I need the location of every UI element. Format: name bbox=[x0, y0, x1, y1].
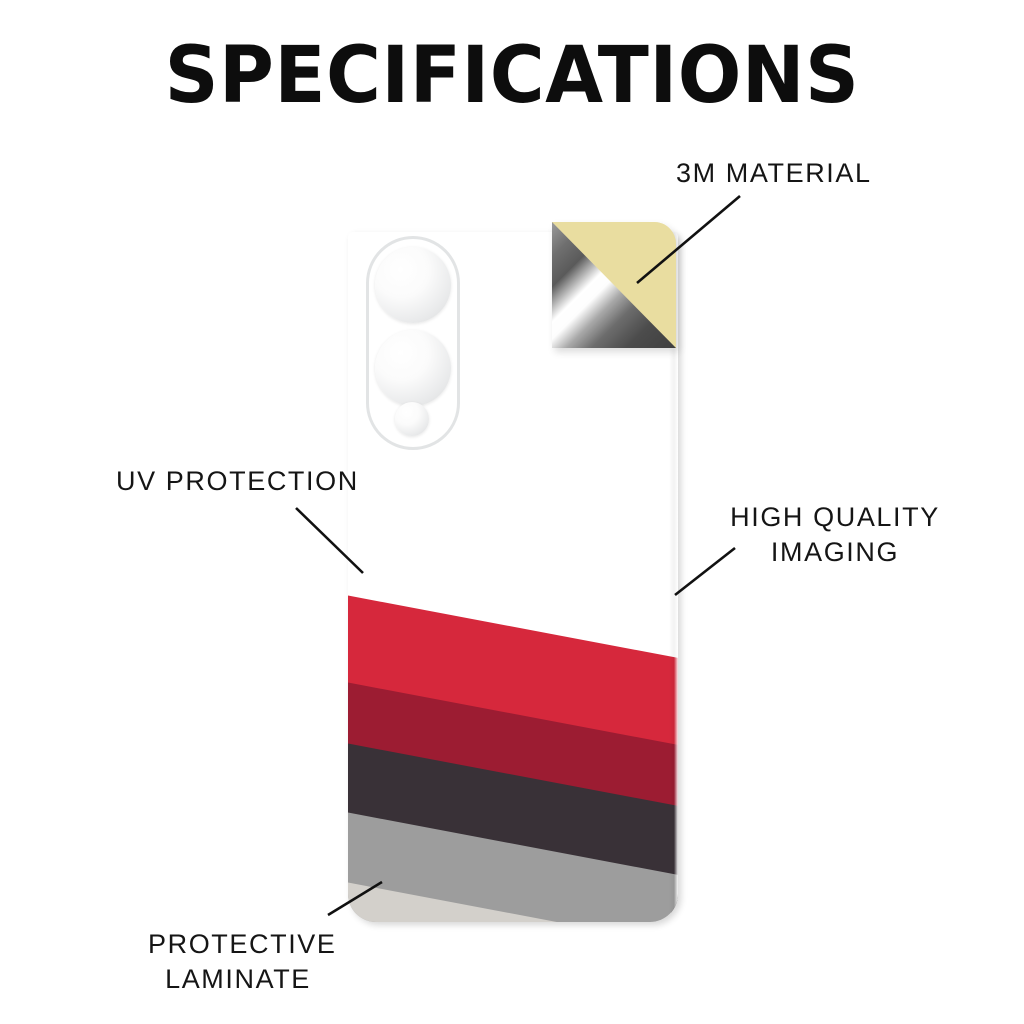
callout-label-protective-laminate: PROTECTIVE LAMINATE bbox=[148, 927, 328, 997]
page-title: SPECIFICATIONS bbox=[20, 34, 1003, 118]
callout-label-3m-material: 3M MATERIAL bbox=[676, 156, 872, 191]
specifications-infographic: SPECIFICATIONS 3M MATERIAL UV PROTECTION… bbox=[0, 0, 1024, 1024]
material-swatch bbox=[552, 222, 676, 348]
callout-label-uv-protection: UV PROTECTION bbox=[116, 464, 359, 499]
callout-label-high-quality-imaging: HIGH QUALITY IMAGING bbox=[723, 500, 947, 570]
camera-lens-bottom-icon bbox=[375, 330, 451, 406]
camera-lens-top-icon bbox=[375, 247, 451, 323]
camera-lens-small-icon bbox=[395, 402, 429, 436]
